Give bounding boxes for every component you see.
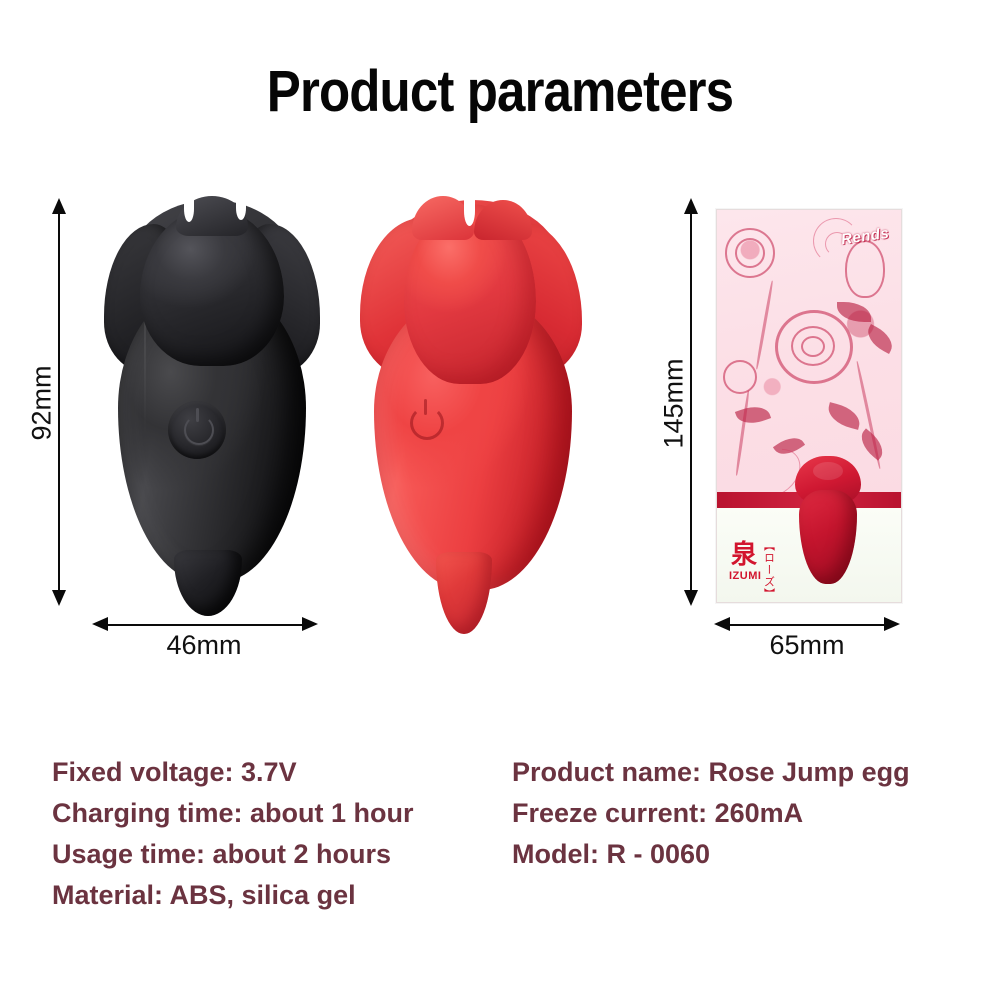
petal-notch-right <box>236 196 246 220</box>
arrow-right-icon <box>884 617 900 631</box>
page-title: Product parameters <box>60 58 940 125</box>
rose-motif-icon <box>723 360 757 394</box>
dimension-line <box>690 210 692 598</box>
leaf-icon <box>825 402 863 430</box>
package-kanji: 泉 <box>731 542 757 568</box>
floral-pattern: Rends <box>717 210 901 495</box>
stem-line <box>735 390 750 476</box>
dimension-label-46mm: 46mm <box>92 630 316 661</box>
package-product-photo <box>793 456 863 584</box>
product-image-black-rose <box>98 196 326 596</box>
leaf-icon <box>837 302 871 322</box>
dimension-label-92mm: 92mm <box>27 371 58 441</box>
leaf-icon <box>735 401 771 429</box>
rose-motif-icon <box>735 238 765 268</box>
power-symbol-icon <box>410 406 444 440</box>
arrow-right-icon <box>302 617 318 631</box>
dimension-label-145mm: 145mm <box>659 363 690 449</box>
dimension-line <box>726 624 886 626</box>
spec-item: Fixed voltage: 3.7V <box>52 752 414 793</box>
spec-item: Freeze current: 260mA <box>512 793 910 834</box>
spec-item: Usage time: about 2 hours <box>52 834 414 875</box>
spec-item: Material: ABS, silica gel <box>52 875 414 916</box>
power-symbol-icon <box>184 415 214 445</box>
package-romaji: IZUMI <box>729 570 761 582</box>
stem-line <box>755 280 774 369</box>
power-button-icon <box>404 396 446 446</box>
product-package-box: Rends 泉 IZUMI 【ローズ】 <box>716 209 902 603</box>
product-bottom-tip <box>436 552 492 634</box>
spec-item: Model: R - 0060 <box>512 834 910 875</box>
spec-item: Product name: Rose Jump egg <box>512 752 910 793</box>
product-bottom-tip <box>174 550 242 616</box>
spec-list-right: Product name: Rose Jump egg Freeze curre… <box>512 752 910 875</box>
power-button-icon <box>168 401 226 459</box>
package-katakana: 【ローズ】 <box>763 540 775 600</box>
dimension-label-65mm: 65mm <box>714 630 900 661</box>
package-product-body <box>799 490 857 584</box>
leaf-icon <box>863 324 898 354</box>
spec-item: Charging time: about 1 hour <box>52 793 414 834</box>
dimension-line <box>104 624 304 626</box>
petal-notch-left <box>184 196 194 222</box>
dimension-line <box>58 210 60 598</box>
arrow-down-icon <box>684 590 698 606</box>
product-image-red-rose <box>352 196 596 606</box>
petal-notch <box>464 196 475 226</box>
rose-motif-icon <box>801 336 825 357</box>
spec-list-left: Fixed voltage: 3.7V Charging time: about… <box>52 752 414 916</box>
arrow-down-icon <box>52 590 66 606</box>
